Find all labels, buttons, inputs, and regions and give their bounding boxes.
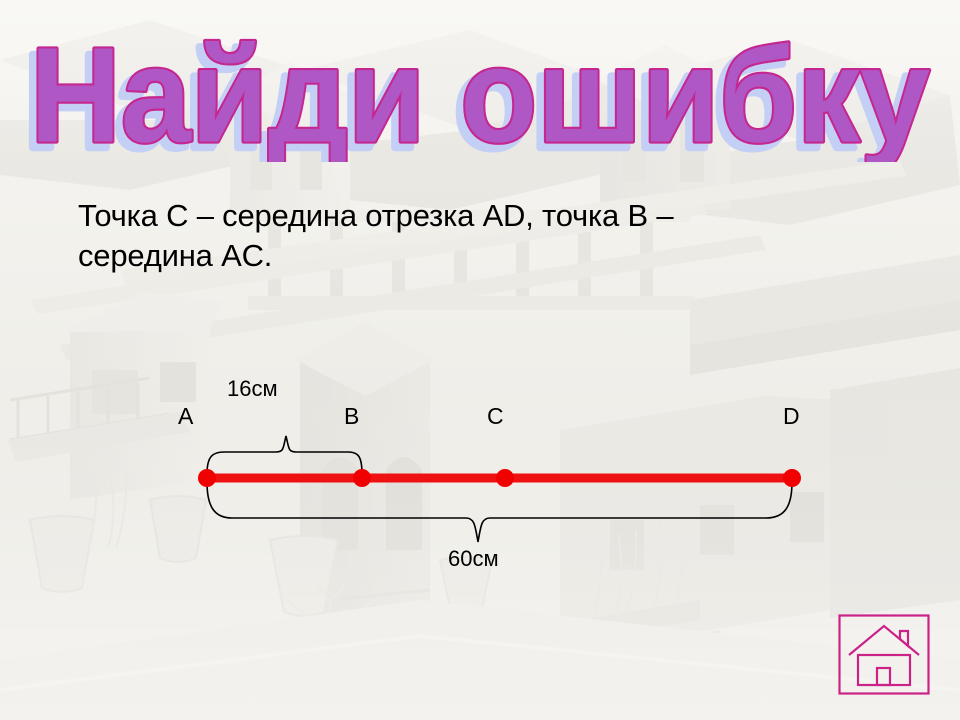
dimension-label-ab: 16см	[227, 376, 278, 401]
point-c-marker	[496, 469, 514, 487]
home-button[interactable]	[838, 614, 930, 695]
home-icon[interactable]	[838, 614, 930, 695]
home-icon-body	[858, 655, 910, 685]
home-icon-door	[877, 668, 890, 685]
slide: Найди ошибку Найди ошибку Точка C – сере…	[0, 0, 960, 720]
point-d-marker	[783, 469, 801, 487]
brace-segment-ab	[207, 436, 362, 474]
segment-diagram: A B C D 16см 60см	[0, 0, 960, 720]
dimension-label-ad: 60см	[448, 546, 499, 571]
point-a-marker	[198, 469, 216, 487]
point-b-marker	[353, 469, 371, 487]
point-label-c: C	[487, 403, 504, 429]
point-label-b: B	[344, 403, 359, 429]
point-label-a: A	[178, 403, 194, 429]
point-label-d: D	[783, 403, 800, 429]
home-icon-chimney	[900, 631, 908, 646]
brace-segment-ad	[207, 482, 792, 542]
